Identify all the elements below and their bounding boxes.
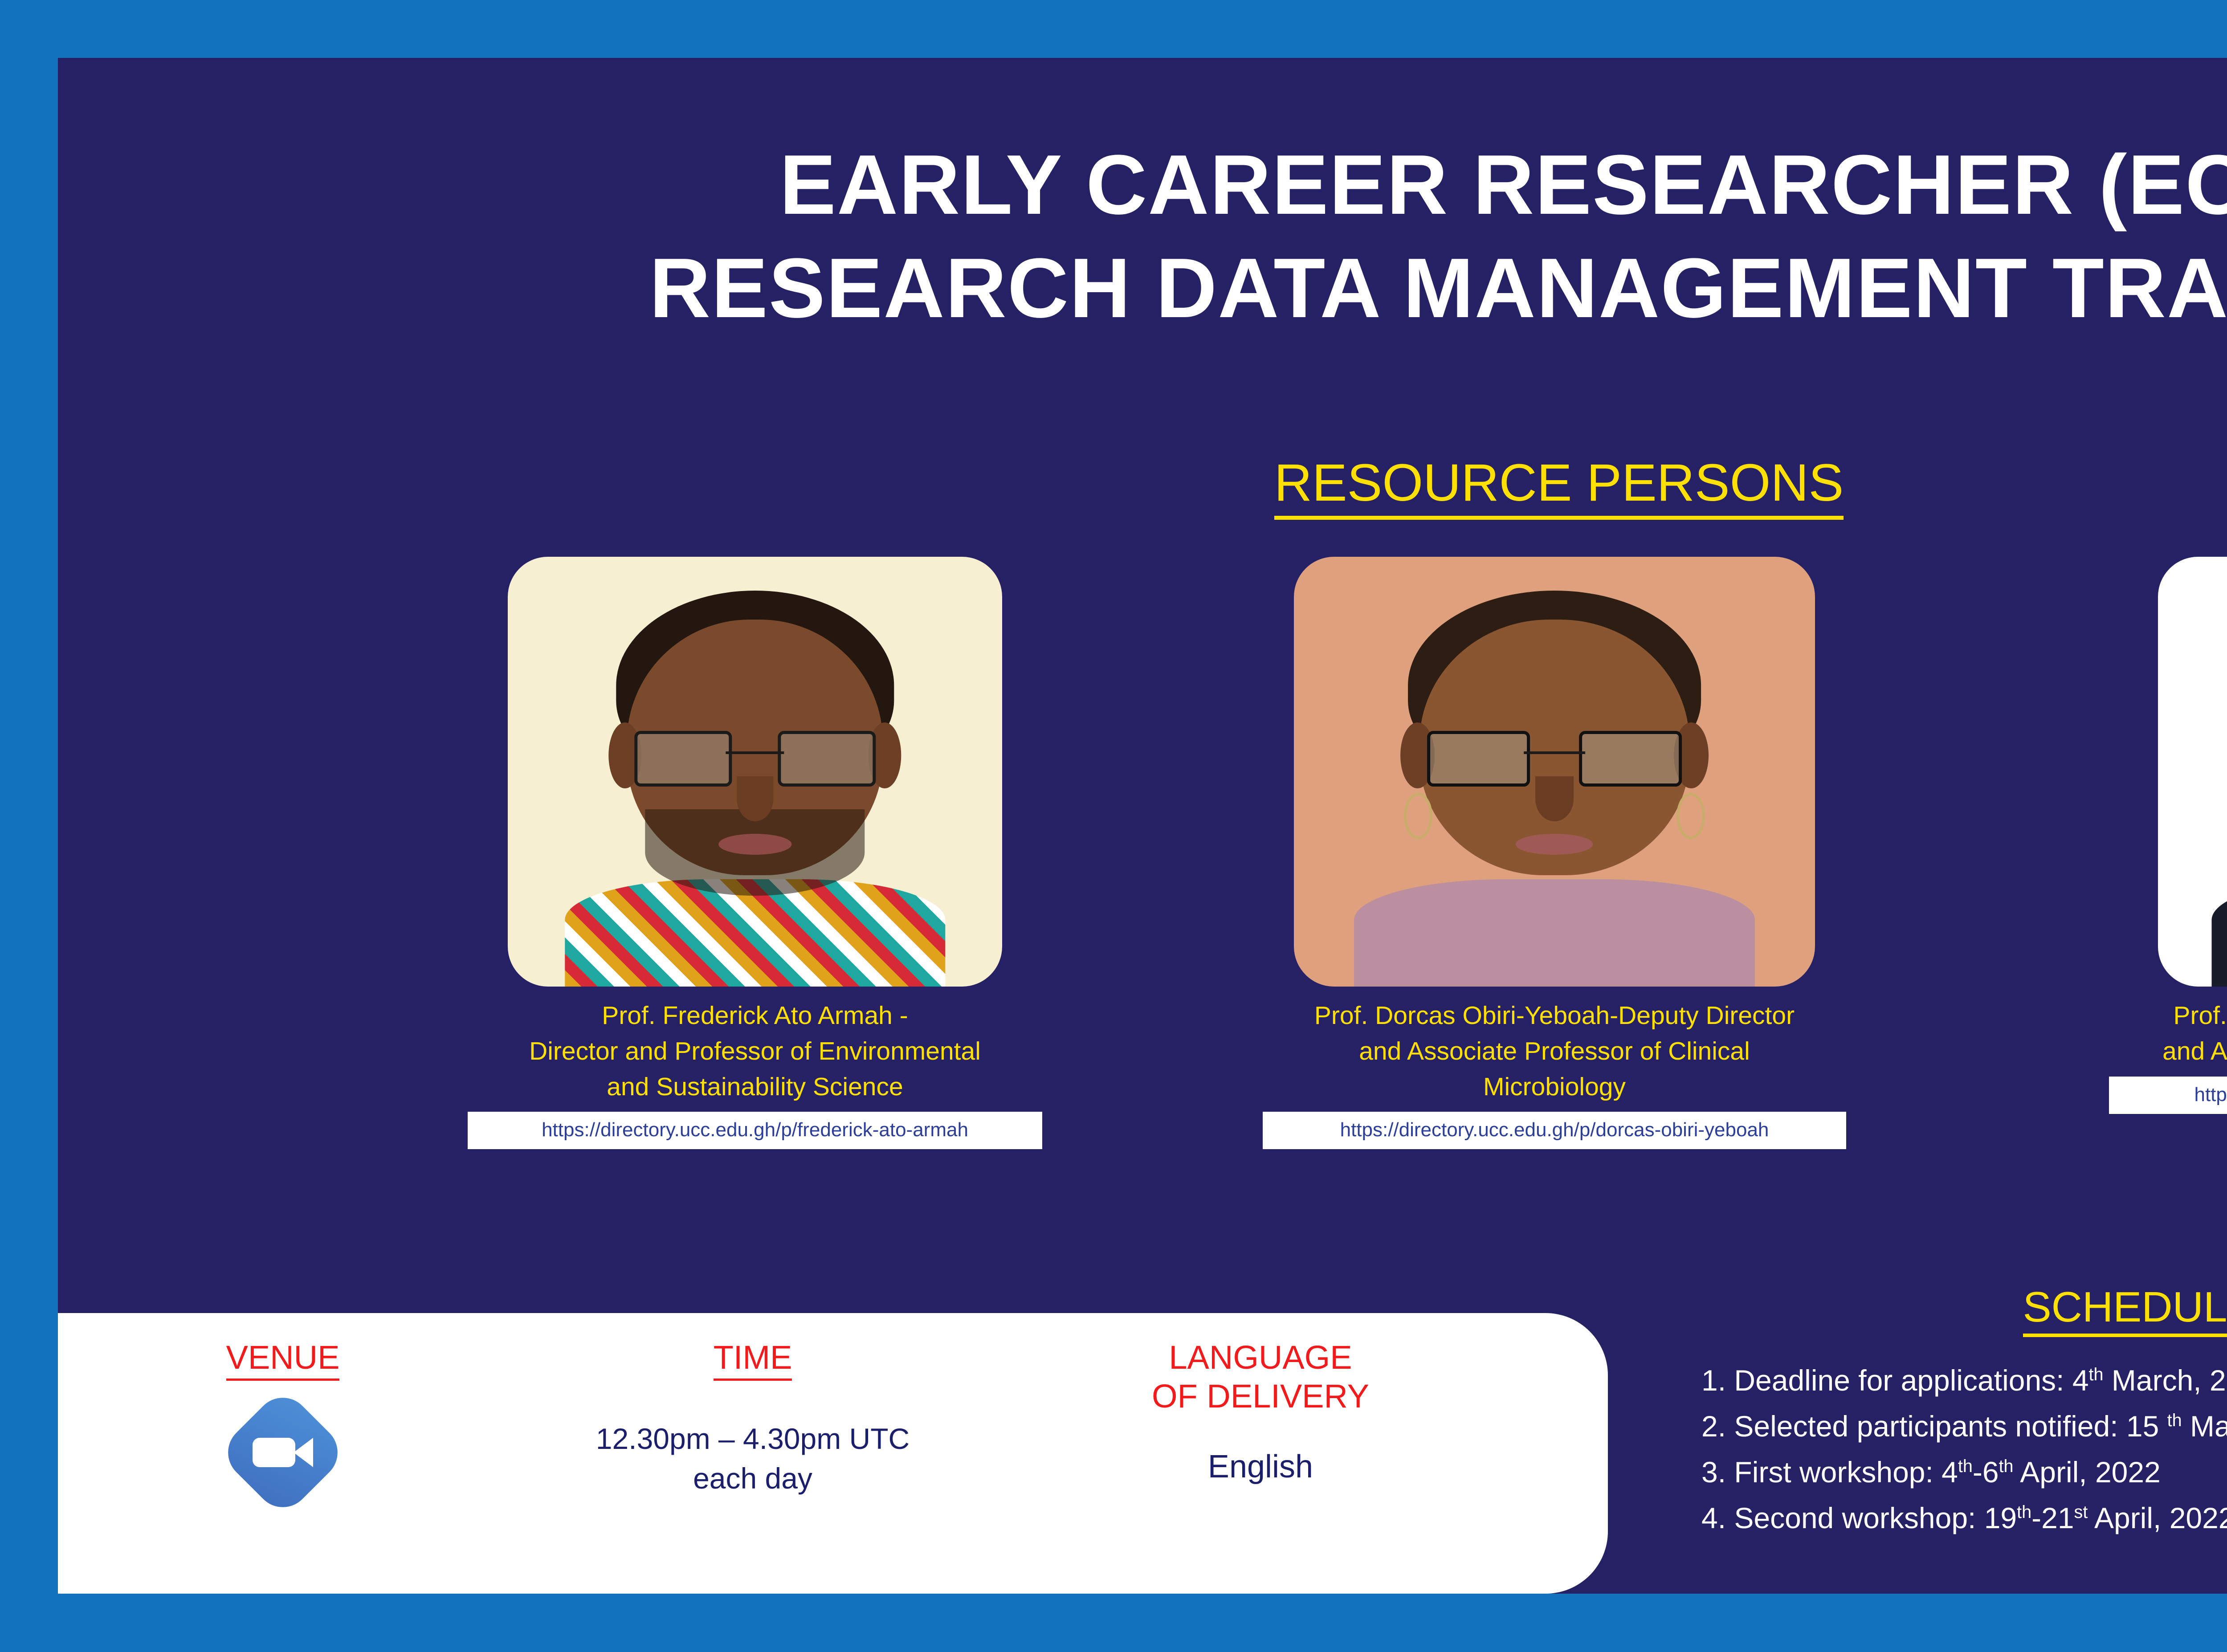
language-value: English [998, 1445, 1523, 1489]
speaker-name-1: Prof. Frederick Ato Armah - [508, 998, 1002, 1034]
schedules-heading: SCHEDULES [1701, 1283, 2227, 1337]
schedules-list: 1. Deadline for applications: 4th March,… [1701, 1358, 2227, 1541]
speaker-profile-link-1[interactable]: https://directory.ucc.edu.gh/p/frederick… [468, 1112, 1042, 1149]
speaker-caption-1: Prof. Frederick Ato Armah - Director and… [508, 998, 1002, 1105]
time-range: 12.30pm – 4.30pm UTC [508, 1419, 998, 1459]
speaker-profile-link-2[interactable]: https://directory.ucc.edu.gh/p/dorcas-ob… [1263, 1112, 1846, 1149]
poster-root: EARLY CAREER RESEARCHER (ECR) RESEARCH D… [0, 0, 2227, 1652]
speaker-role-3: and Associate Professor of Public Health [2158, 1034, 2227, 1069]
schedule-item-2: 2. Selected participants notified: 15 th… [1701, 1403, 2227, 1449]
resource-persons-heading-text: RESOURCE PERSONS [1274, 454, 1844, 520]
language-column: LANGUAGE OF DELIVERY English [998, 1313, 1523, 1594]
speaker-caption-3: Prof. David Teye Doku-Deputy Director an… [2158, 998, 2227, 1069]
speaker-caption-2: Prof. Dorcas Obiri-Yeboah-Deputy Directo… [1294, 998, 1815, 1105]
speaker-role-2: and Associate Professor of Clinical Micr… [1294, 1034, 1815, 1105]
info-bar: VENUE TIME 12.30pm – 4.30pm UTC each day… [58, 1313, 1608, 1594]
portrait-illustration-3 [2219, 574, 2227, 987]
title-line-1: EARLY CAREER RESEARCHER (ECR) [779, 138, 2227, 232]
video-camera-icon [236, 1406, 330, 1499]
schedule-item-1: 1. Deadline for applications: 4th March,… [1701, 1358, 2227, 1403]
speaker-card-1: Prof. Frederick Ato Armah - Director and… [508, 557, 1002, 1149]
venue-heading: VENUE [58, 1313, 508, 1381]
language-heading: LANGUAGE OF DELIVERY [998, 1313, 1523, 1416]
speaker-name-3: Prof. David Teye Doku-Deputy Director [2158, 998, 2227, 1034]
zoom-video-icon[interactable] [217, 1387, 349, 1519]
venue-heading-text: VENUE [226, 1338, 340, 1381]
portrait-illustration-2 [1362, 574, 1747, 987]
schedules-heading-text: SCHEDULES [2023, 1283, 2227, 1337]
speaker-card-2: Prof. Dorcas Obiri-Yeboah-Deputy Directo… [1294, 557, 1815, 1149]
time-column: TIME 12.30pm – 4.30pm UTC each day [508, 1313, 998, 1594]
speaker-photo-2 [1294, 557, 1815, 987]
speaker-photo-1 [508, 557, 1002, 987]
schedule-item-4: 4. Second workshop: 19th-21st April, 202… [1701, 1495, 2227, 1541]
time-heading: TIME [508, 1313, 998, 1381]
speaker-name-2: Prof. Dorcas Obiri-Yeboah-Deputy Directo… [1294, 998, 1815, 1034]
time-heading-text: TIME [714, 1338, 792, 1381]
schedules-section: SCHEDULES 1. Deadline for applications: … [1701, 1283, 2227, 1541]
time-frequency: each day [508, 1459, 998, 1498]
language-heading-line-2: OF DELIVERY [998, 1377, 1523, 1415]
speaker-photo-3 [2158, 557, 2227, 987]
page-title: EARLY CAREER RESEARCHER (ECR) RESEARCH D… [58, 134, 2227, 340]
venue-column: VENUE [58, 1313, 508, 1594]
speaker-role-1a: Director and Professor of Environmental [508, 1034, 1002, 1069]
time-value: 12.30pm – 4.30pm UTC each day [508, 1419, 998, 1498]
speaker-profile-link-3[interactable]: https://directory.ucc.edu.gh/p/david-tey… [2109, 1077, 2227, 1114]
title-line-2: RESEARCH DATA MANAGEMENT TRAINING [58, 237, 2227, 340]
resource-persons-heading: RESOURCE PERSONS [58, 454, 2227, 520]
schedule-item-3: 3. First workshop: 4th-6th April, 2022 [1701, 1449, 2227, 1495]
language-heading-line-1: LANGUAGE [998, 1338, 1523, 1377]
portrait-illustration-1 [572, 574, 938, 987]
speaker-role-1b: and Sustainability Science [508, 1069, 1002, 1105]
speaker-card-3: Prof. David Teye Doku-Deputy Director an… [2158, 557, 2227, 1114]
